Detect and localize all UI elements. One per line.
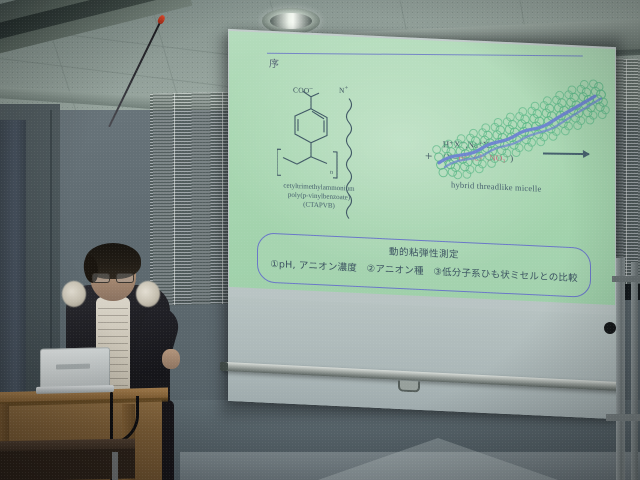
metal-easel-frame xyxy=(616,258,625,480)
front-desk-leg xyxy=(112,452,118,480)
floor-light-pool xyxy=(318,438,558,480)
chemical-structure-diagram: COO– N+ n xyxy=(277,81,417,238)
jacket-fur-trim-right xyxy=(136,281,160,307)
screen-pull-handle[interactable] xyxy=(398,380,420,392)
jacket-fur-trim-left xyxy=(62,281,86,307)
presenter-hand xyxy=(162,349,180,369)
slide-title-rule xyxy=(267,53,583,57)
chem-label-coo: COO– xyxy=(293,84,313,95)
lecture-room-photo: 序 xyxy=(0,0,640,480)
easel-crossbar-lower xyxy=(606,414,640,421)
projection-screen-blank-area xyxy=(228,297,616,419)
projected-slide: 序 xyxy=(229,31,615,305)
presenter-laptop[interactable] xyxy=(40,347,110,389)
easel-knob xyxy=(604,322,616,334)
easel-crossbar xyxy=(612,276,640,282)
laptop-logo xyxy=(56,364,90,370)
slide-title: 序 xyxy=(269,55,280,70)
micelle-illustration xyxy=(425,70,615,189)
chem-label-n-repeat: n xyxy=(330,170,333,176)
compound-name: cetyltrimethylammonium poly(p-vinylbenzo… xyxy=(249,180,389,214)
slide-callout-box: 動的粘弾性測定 ①pH, アニオン濃度 ②アニオン種 ③低分子系ひも状ミセルとの… xyxy=(257,232,591,298)
metal-easel-frame-secondary xyxy=(631,262,638,480)
presenter-glasses xyxy=(92,273,134,281)
chem-label-n: N+ xyxy=(339,84,348,95)
